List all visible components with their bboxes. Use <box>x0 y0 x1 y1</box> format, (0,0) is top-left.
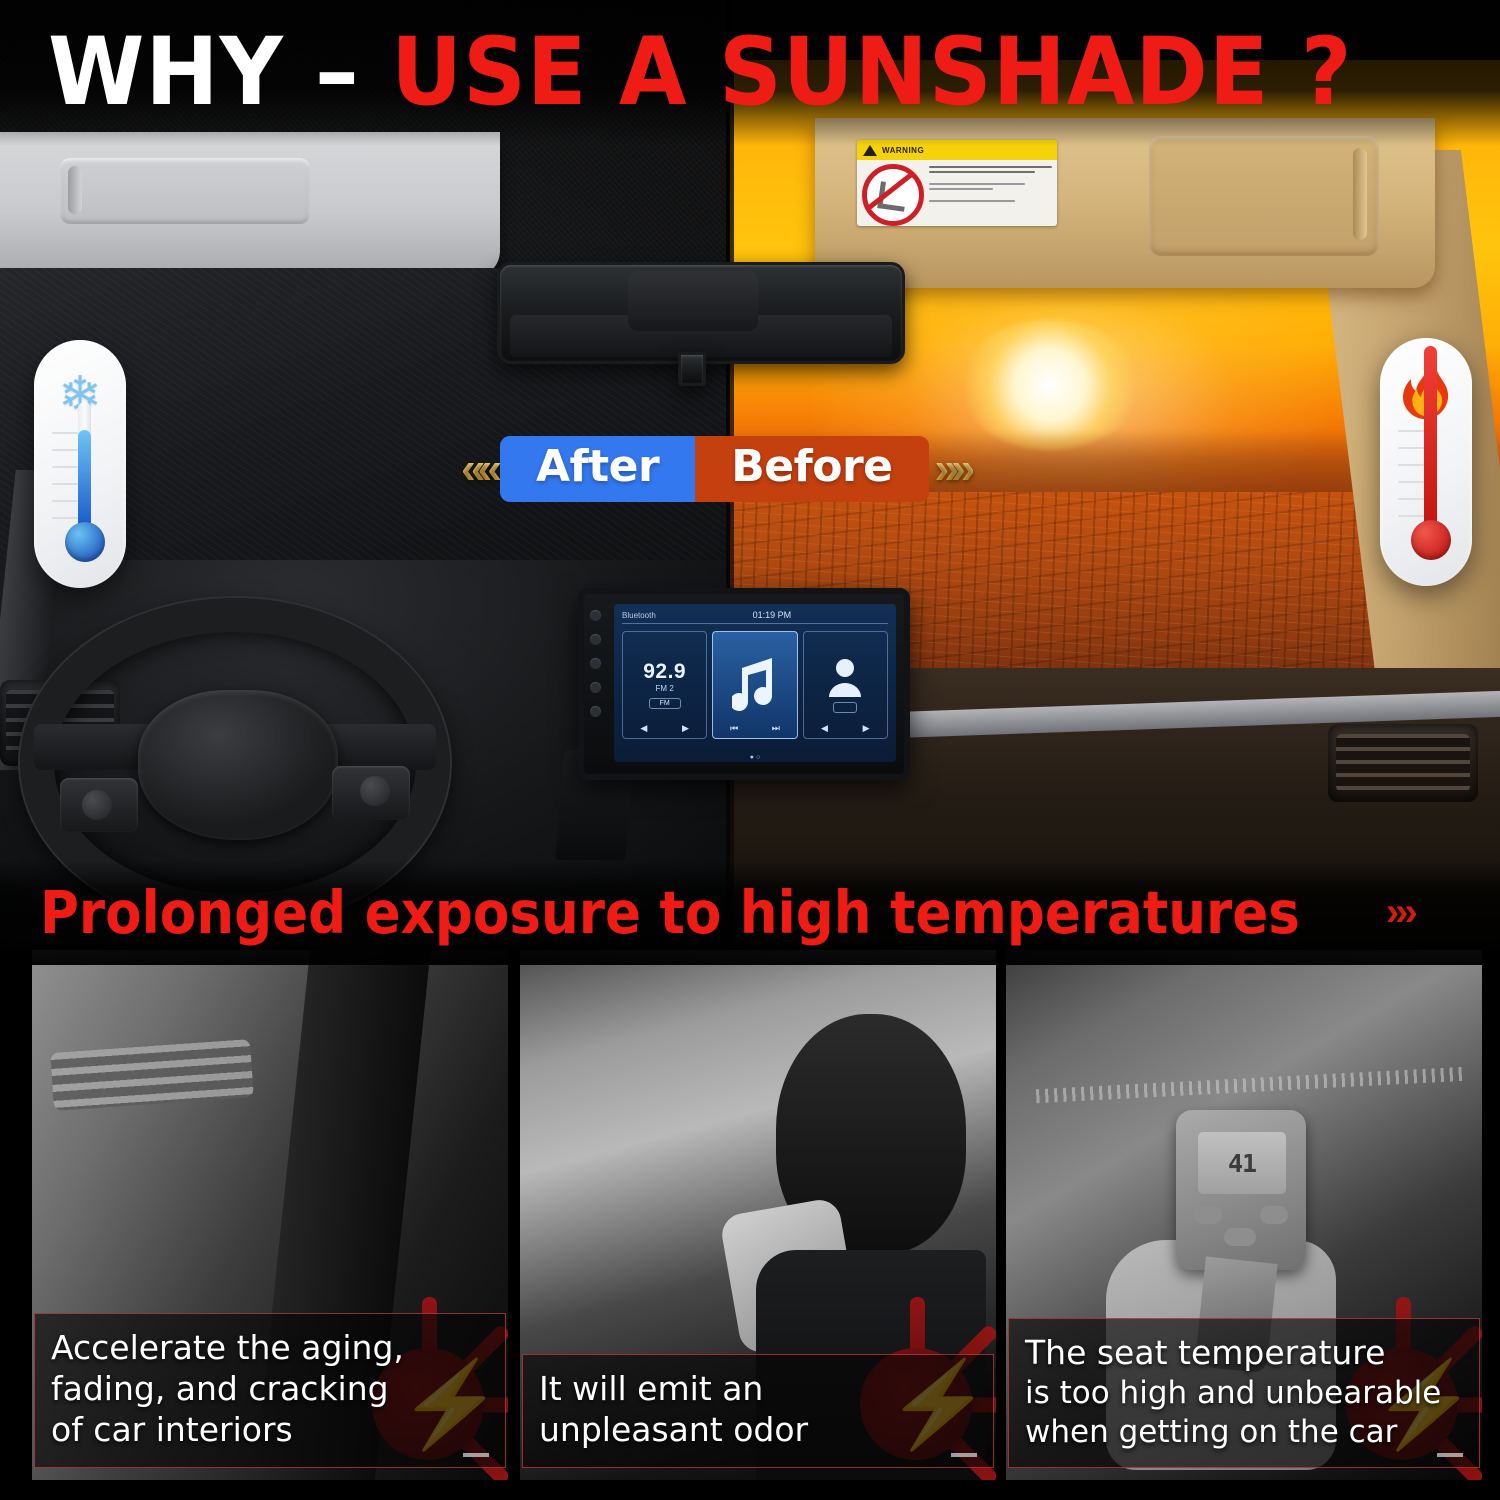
caption-line-3: when getting on the car <box>1025 1413 1463 1451</box>
steering-dpad-left-icon <box>82 790 112 820</box>
consequence-panels: ⚡ Accelerate the aging, fading, and crac… <box>0 950 1500 1500</box>
media-next-icon[interactable]: ⏭ <box>772 723 780 734</box>
infotainment-head-unit[interactable]: Bluetooth 01:19 PM 92.9 FM 2 FM ◀ ▶ <box>578 588 910 780</box>
caption-line-2: unpleasant odor <box>539 1410 977 1451</box>
hot-thermometer <box>1380 338 1472 586</box>
after-badge[interactable]: After <box>500 436 695 502</box>
radio-band: FM 2 <box>656 684 674 693</box>
warning-triangle-icon <box>863 145 877 156</box>
power-button-icon[interactable] <box>590 610 601 621</box>
air-vent-right <box>1328 724 1478 802</box>
media-button-icon[interactable] <box>590 658 601 669</box>
head-unit-side-buttons[interactable] <box>590 610 601 717</box>
caption-dash-mark <box>1437 1453 1463 1457</box>
page-title-bar: WHY – USE A SUNSHADE ? <box>0 0 1500 146</box>
ir-button-right <box>1260 1206 1288 1224</box>
caption-line-1: The seat temperature <box>1025 1333 1463 1374</box>
warning-label-title: WARNING <box>882 146 924 155</box>
caption-line-2: fading, and cracking <box>51 1369 489 1410</box>
infographic-root: WARNING <box>0 0 1500 1500</box>
child-seat-glyph <box>877 181 907 211</box>
person-icon <box>826 657 864 697</box>
warning-label-text-lines <box>929 164 1052 226</box>
profile-tile[interactable]: ◀ ▶ <box>803 631 888 739</box>
radio-next-icon[interactable]: ▶ <box>682 723 689 734</box>
mirror-reflection-headrest <box>628 271 758 331</box>
settings-button-icon[interactable] <box>590 682 601 693</box>
steering-spoke-left <box>34 724 154 770</box>
rearview-mirror <box>497 262 905 364</box>
before-badge[interactable]: Before <box>695 436 928 502</box>
page-title-white: WHY – <box>48 18 360 127</box>
ir-thermometer-reading: 41 <box>1228 1149 1256 1178</box>
no-child-seat-icon <box>862 164 924 226</box>
cold-thermometer: ❄ <box>34 340 126 588</box>
chevron-left-icon: «« <box>455 447 500 491</box>
caption-line-1: Accelerate the aging, <box>51 1328 489 1369</box>
steering-airbag-hub <box>138 690 338 840</box>
panel-interior-aging: ⚡ Accelerate the aging, fading, and crac… <box>32 950 508 1480</box>
page-indicator-dots: ● ○ <box>614 754 896 761</box>
panel-caption: Accelerate the aging, fading, and cracki… <box>34 1313 506 1468</box>
warning-label-body <box>857 160 1057 226</box>
media-tile-arrows[interactable]: ⏮ ⏭ <box>713 723 796 734</box>
panel-caption: The seat temperature is too high and unb… <box>1008 1318 1480 1468</box>
media-prev-icon[interactable]: ⏮ <box>730 723 738 734</box>
volume-button-icon[interactable] <box>590 706 601 717</box>
radio-tile[interactable]: 92.9 FM 2 FM ◀ ▶ <box>622 631 707 739</box>
steering-dpad-right-icon <box>360 776 390 806</box>
page-title-red: USE A SUNSHADE ? <box>391 18 1352 127</box>
profile-next-icon[interactable]: ▶ <box>863 723 870 734</box>
caption-dash-mark <box>463 1453 489 1457</box>
infrared-thermometer-gun: 41 <box>1176 1110 1306 1270</box>
thermometer-bulb-hot <box>1411 520 1451 560</box>
chevron-triple-icon: ››› <box>1386 890 1414 935</box>
chevron-right-icon: »» <box>929 447 974 491</box>
radio-frequency: 92.9 <box>643 661 686 682</box>
panel-seat-temperature: 41 ⚡ The seat temperature is too high an… <box>1006 950 1482 1480</box>
thermometer-fill-hot <box>1424 346 1437 528</box>
ir-thermometer-display: 41 <box>1198 1132 1286 1194</box>
panel-caption: It will emit an unpleasant odor <box>522 1354 994 1468</box>
infotainment-screen[interactable]: Bluetooth 01:19 PM 92.9 FM 2 FM ◀ ▶ <box>614 604 896 762</box>
panel-unpleasant-odor: ⚡ It will emit an unpleasant odor <box>520 950 996 1480</box>
home-button-icon[interactable] <box>590 634 601 645</box>
caption-line-1: It will emit an <box>539 1369 977 1410</box>
section-headline: Prolonged exposure to high temperatures <box>40 883 1300 942</box>
radio-preset-chip[interactable]: FM <box>649 698 681 709</box>
caption-line-3: of car interiors <box>51 1410 489 1451</box>
infotainment-statusbar: Bluetooth 01:19 PM <box>622 610 888 624</box>
rearview-mirror-stem <box>678 352 706 386</box>
profile-prev-icon[interactable]: ◀ <box>821 723 828 734</box>
sun-visor-left <box>0 132 500 277</box>
radio-tile-arrows[interactable]: ◀ ▶ <box>623 723 706 734</box>
media-tile[interactable]: ⏮ ⏭ <box>712 631 797 739</box>
statusbar-left: Bluetooth <box>622 611 656 620</box>
infotainment-tiles: 92.9 FM 2 FM ◀ ▶ ⏮ <box>622 631 888 739</box>
visor-mirror-cover <box>60 158 310 224</box>
profile-chip[interactable] <box>833 702 857 713</box>
thermometer-fill-cold <box>78 430 91 530</box>
infotainment-clock: 01:19 PM <box>753 610 792 620</box>
visor-vanity-pocket <box>1149 136 1379 256</box>
ir-button-left <box>1194 1206 1222 1224</box>
before-after-toggle[interactable]: «« After Before »» <box>455 436 973 502</box>
airbag-warning-label: WARNING <box>857 140 1057 226</box>
music-note-icon <box>732 656 778 714</box>
section-headline-bar: Prolonged exposure to high temperatures … <box>0 860 1500 965</box>
page-title: WHY – USE A SUNSHADE ? <box>48 26 1352 120</box>
caption-dash-mark <box>951 1453 977 1457</box>
profile-tile-arrows[interactable]: ◀ ▶ <box>804 723 887 734</box>
ir-button-center <box>1224 1228 1256 1246</box>
caption-line-2: is too high and unbearable <box>1025 1374 1463 1412</box>
thermometer-bulb-cold <box>65 522 105 562</box>
radio-prev-icon[interactable]: ◀ <box>640 723 647 734</box>
